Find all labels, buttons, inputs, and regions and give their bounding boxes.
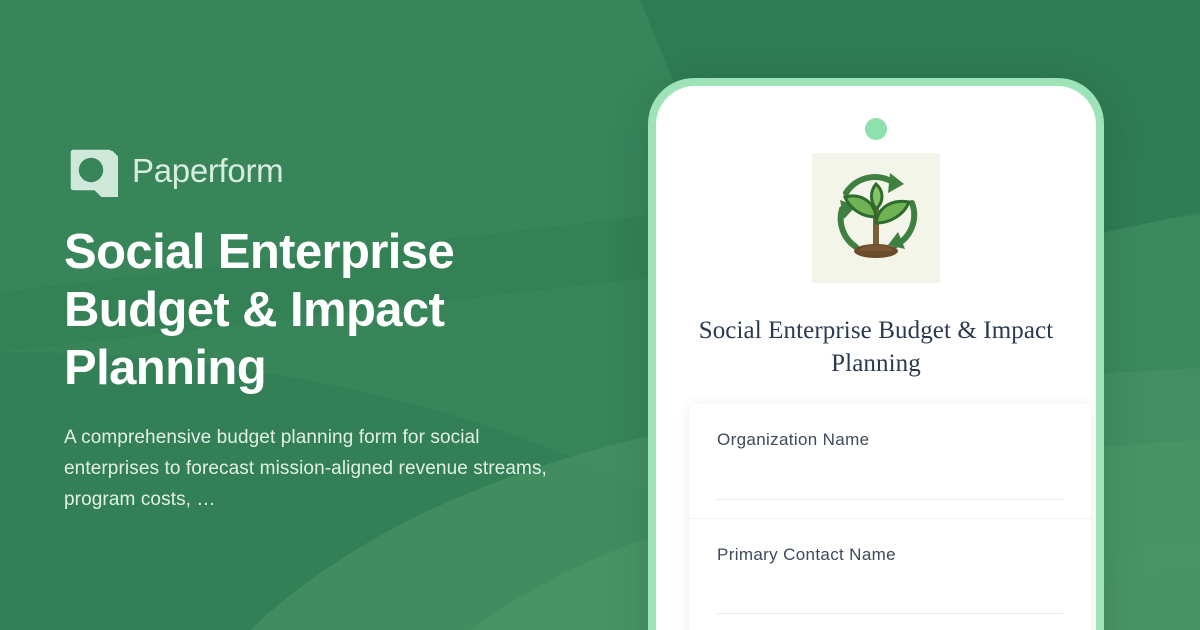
share-preview-canvas: Paperform Social Enterprise Budget & Imp… [0, 0, 1200, 630]
page-title: Social Enterprise Budget & Impact Planni… [64, 224, 494, 397]
field-label: Organization Name [717, 430, 1063, 450]
form-fields-card: Organization Name Primary Contact Name [689, 404, 1091, 630]
camera-dot-icon [865, 118, 887, 140]
page-description: A comprehensive budget planning form for… [64, 423, 564, 515]
field-underline [717, 613, 1063, 614]
brand-lockup: Paperform [64, 140, 584, 200]
form-field-organization-name[interactable]: Organization Name [689, 404, 1091, 518]
phone-screen: Social Enterprise Budget & Impact Planni… [656, 86, 1096, 630]
field-label: Primary Contact Name [717, 545, 1063, 565]
plant-recycle-icon [812, 153, 940, 283]
phone-mockup: Social Enterprise Budget & Impact Planni… [648, 78, 1104, 630]
form-cover-image-wrap [656, 153, 1096, 283]
paperform-quatrefoil-icon [64, 143, 118, 197]
brand-name: Paperform [132, 154, 283, 187]
form-field-primary-contact-name[interactable]: Primary Contact Name [689, 518, 1091, 630]
field-underline [717, 499, 1063, 500]
form-title: Social Enterprise Budget & Impact Planni… [690, 314, 1062, 380]
hero-content: Paperform Social Enterprise Budget & Imp… [64, 140, 584, 516]
